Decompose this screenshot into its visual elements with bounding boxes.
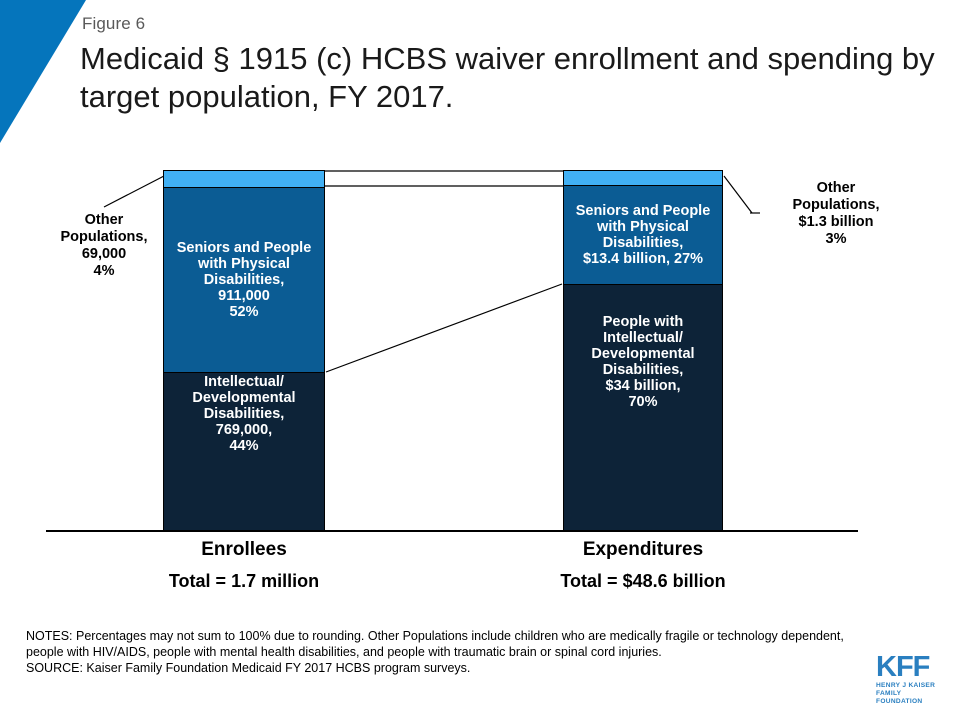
kff-wordmark: KFF [876, 652, 948, 682]
bar-enrollees[interactable]: Seniors and People with Physical Disabil… [163, 170, 325, 531]
bar-segment-expenditures-idd[interactable]: People with Intellectual/ Developmental … [564, 285, 722, 530]
bar-segment-expenditures-seniors-physical[interactable]: Seniors and People with Physical Disabil… [564, 185, 722, 285]
bar-label-expenditures-seniors-physical: Seniors and People with Physical Disabil… [572, 203, 715, 267]
kff-logo-line1: HENRY J KAISER [876, 682, 948, 690]
bar-expenditures[interactable]: Seniors and People with Physical Disabil… [563, 170, 723, 531]
source-text: SOURCE: Kaiser Family Foundation Medicai… [26, 660, 856, 676]
category-label-expenditures: Expenditures [563, 539, 723, 561]
bar-segment-enrollees-idd[interactable]: People with Intellectual/ Developmental … [164, 373, 324, 530]
callout-enrollees-other-populations: Other Populations, 69,000 4% [30, 212, 178, 280]
bar-segment-enrollees-other-populations[interactable] [164, 171, 324, 187]
bar-segment-enrollees-seniors-physical[interactable]: Seniors and People with Physical Disabil… [164, 187, 324, 373]
kff-logo: KFF HENRY J KAISER FAMILY FOUNDATION [876, 652, 948, 706]
footer-notes-block: NOTES: Percentages may not sum to 100% d… [26, 628, 856, 676]
total-label-enrollees: Total = 1.7 million [124, 571, 364, 592]
total-label-expenditures: Total = $48.6 billion [523, 571, 763, 592]
kff-logo-line2: FAMILY FOUNDATION [876, 690, 948, 706]
notes-text: NOTES: Percentages may not sum to 100% d… [26, 628, 856, 660]
bar-label-expenditures-idd: People with Intellectual/ Developmental … [587, 314, 698, 410]
category-label-enrollees: Enrollees [164, 539, 324, 561]
bar-label-enrollees-idd: People with Intellectual/ Developmental … [188, 373, 299, 454]
bar-label-enrollees-seniors-physical: Seniors and People with Physical Disabil… [173, 240, 316, 320]
callout-expenditures-other-populations: Other Populations, $1.3 billion 3% [762, 180, 910, 248]
leader-lines [0, 0, 960, 720]
bar-segment-expenditures-other-populations[interactable] [564, 171, 722, 185]
